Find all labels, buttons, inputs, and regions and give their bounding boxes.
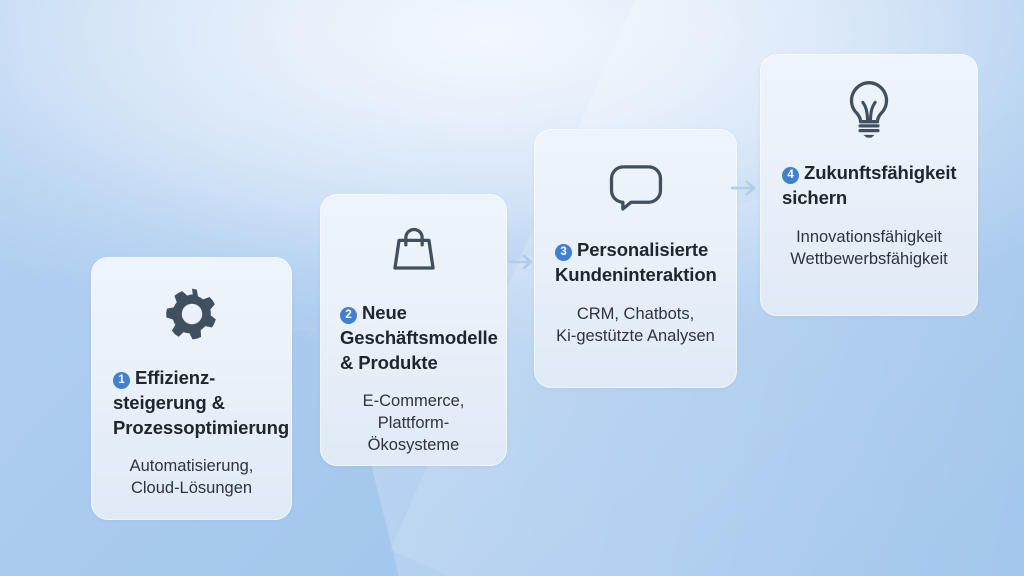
step-2-heading-line-3: & Produkte — [340, 352, 438, 373]
arrow-step2-step3 — [508, 251, 536, 273]
step-4-heading-line-2: sichern — [782, 187, 847, 208]
step-2-badge: 2 — [340, 307, 357, 324]
step-4-badge: 4 — [782, 167, 799, 184]
step-card-4[interactable]: 4Zukunftsfähigkeit sichern Innovationsfä… — [760, 54, 978, 316]
arrow-step1-step2 — [293, 318, 321, 340]
step-2-heading: 2Neue Geschäftsmodelle & Produkte — [333, 300, 494, 375]
step-3-heading: 3Personalisierte Kundeninteraktion — [547, 237, 724, 287]
step-3-heading-line-2: Kundeninteraktion — [555, 264, 717, 285]
step-1-subtext: Automatisierung, Cloud-Lösungen — [105, 455, 278, 499]
step-2-heading-line-2: Geschäftsmodelle — [340, 327, 498, 348]
step-1-heading: 1Effizienz- steigerung & Prozessoptimier… — [105, 365, 278, 440]
step-card-3[interactable]: 3Personalisierte Kundeninteraktion CRM, … — [534, 129, 737, 388]
step-4-sub-line-2: Wettbewerbsfähigkeit — [790, 250, 947, 268]
step-2-subtext: E-Commerce, Plattform-Ökosysteme — [333, 390, 494, 456]
step-3-sub-line-1: CRM, Chatbots, — [577, 305, 694, 323]
arrow-step3-step4 — [731, 177, 759, 199]
step-1-badge: 1 — [113, 372, 130, 389]
step-4-sub-line-1: Innovationsfähigkeit — [796, 228, 942, 246]
step-1-heading-line-2: steigerung & — [113, 392, 225, 413]
step-4-subtext: Innovationsfähigkeit Wettbewerbsfähigkei… — [773, 226, 965, 270]
step-card-2[interactable]: 2Neue Geschäftsmodelle & Produkte E-Comm… — [320, 194, 507, 466]
step-card-1[interactable]: 1Effizienz- steigerung & Prozessoptimier… — [91, 257, 292, 520]
step-3-badge: 3 — [555, 244, 572, 261]
step-1-sub-line-2: Cloud-Lösungen — [131, 479, 252, 497]
step-2-sub-line-1: E-Commerce, — [363, 392, 465, 410]
slide-canvas: 1Effizienz- steigerung & Prozessoptimier… — [0, 0, 1024, 576]
step-1-heading-line-3: Prozessoptimierung — [113, 417, 289, 438]
lightbulb-icon — [838, 76, 900, 142]
step-3-subtext: CRM, Chatbots, Ki-gestützte Analysen — [547, 303, 724, 347]
step-1-heading-line-1: Effizienz- — [135, 367, 215, 388]
speech-bubble-icon — [606, 153, 666, 217]
step-2-sub-line-2: Plattform-Ökosysteme — [368, 414, 460, 454]
step-1-sub-line-1: Automatisierung, — [130, 457, 254, 475]
step-3-heading-line-1: Personalisierte — [577, 239, 708, 260]
step-3-sub-line-2: Ki-gestützte Analysen — [556, 327, 715, 345]
step-4-heading-line-1: Zukunftsfähigkeit — [804, 162, 956, 183]
step-2-heading-line-1: Neue — [362, 302, 407, 323]
gear-icon — [163, 283, 221, 345]
step-4-heading: 4Zukunftsfähigkeit sichern — [773, 160, 965, 210]
shopping-bag-icon — [385, 218, 443, 280]
